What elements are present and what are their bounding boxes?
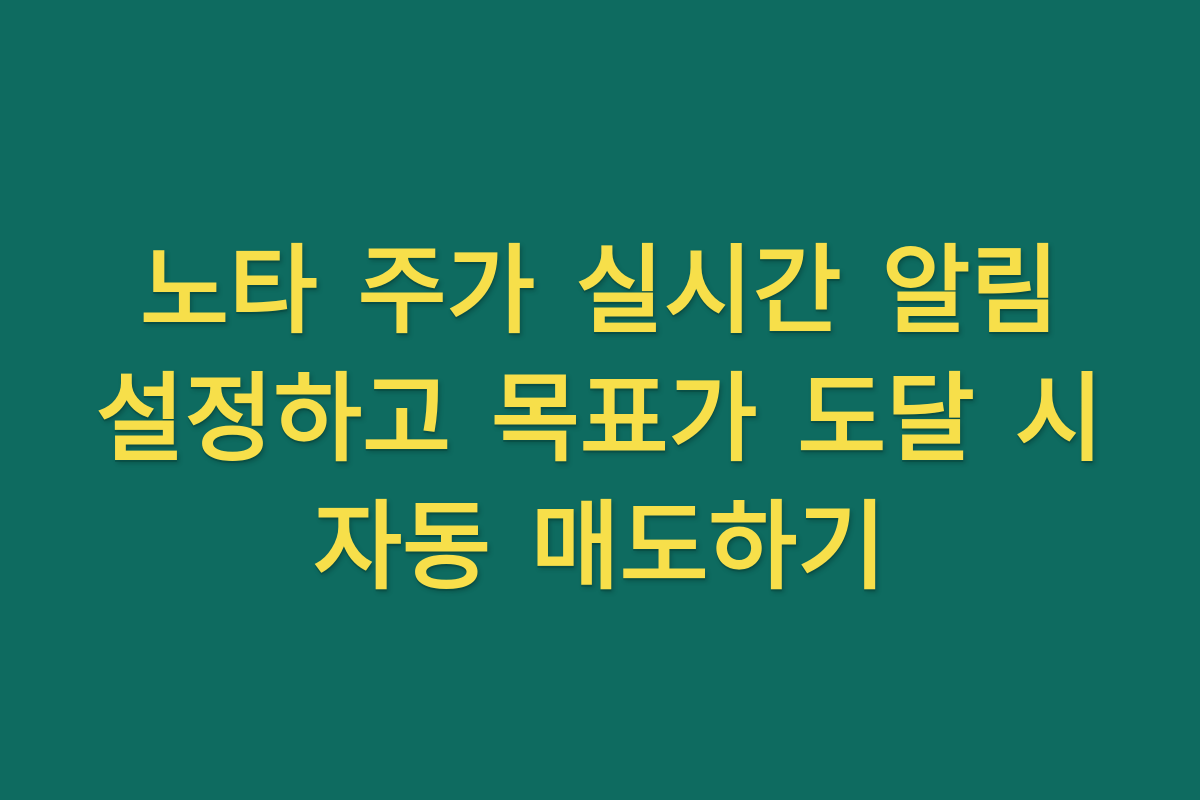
headline-line-3: 자동 매도하기 — [20, 483, 1180, 611]
headline-text-block: 노타 주가 실시간 알림 설정하고 목표가 도달 시 자동 매도하기 — [20, 227, 1180, 611]
headline-line-1: 노타 주가 실시간 알림 — [20, 227, 1180, 355]
headline-line-2: 설정하고 목표가 도달 시 — [20, 355, 1180, 483]
banner-canvas: 노타 주가 실시간 알림 설정하고 목표가 도달 시 자동 매도하기 — [0, 0, 1200, 800]
